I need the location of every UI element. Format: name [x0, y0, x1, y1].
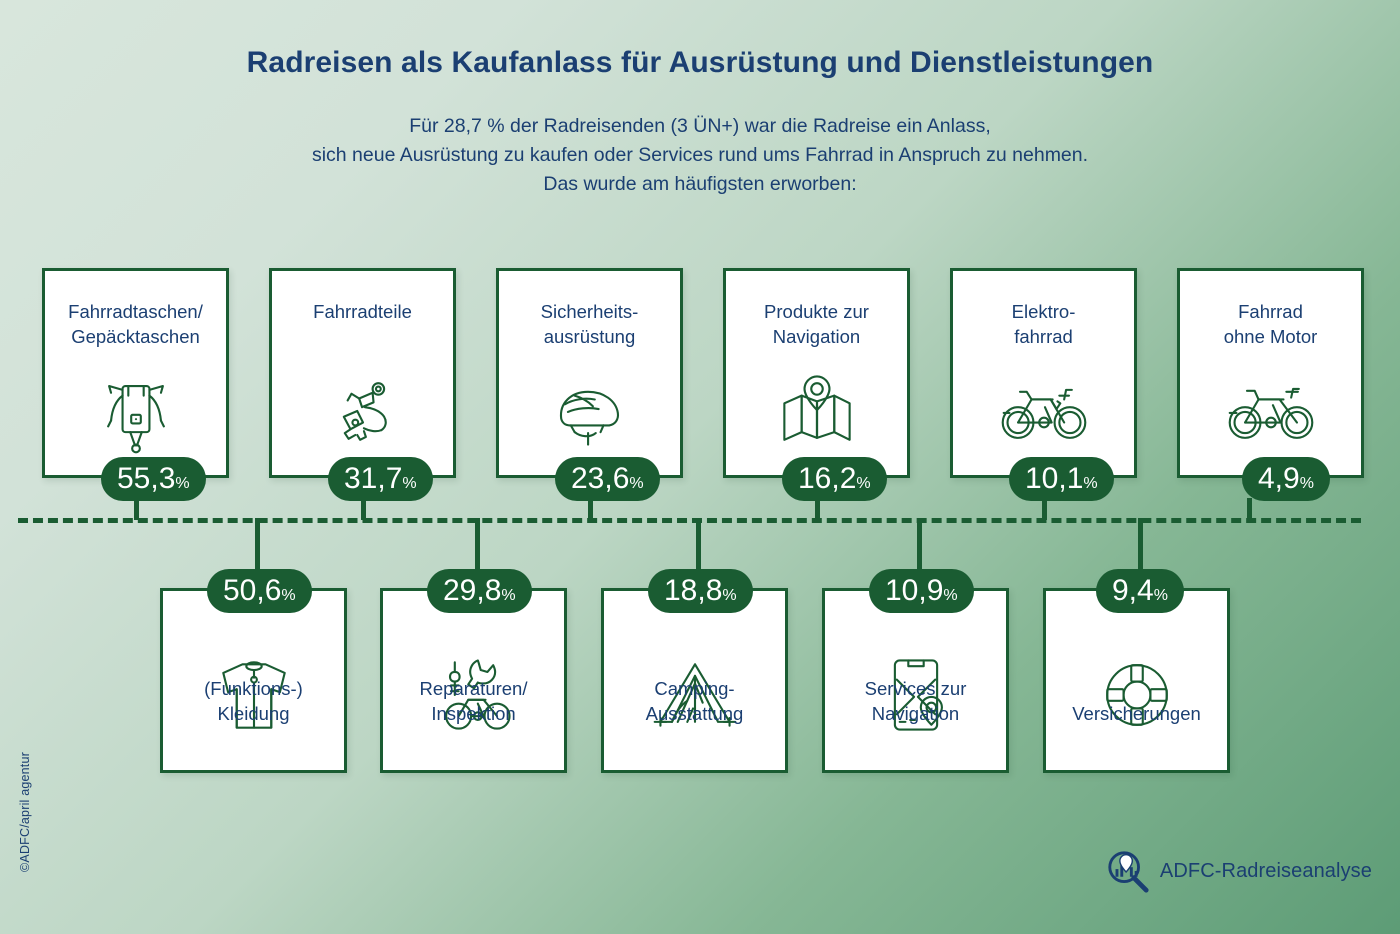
card-label: Services zur Navigation [825, 676, 1006, 726]
value-badge: 23,6% [555, 457, 660, 501]
card-produkte-navigation[interactable]: Produkte zur Navigation 16,2% [723, 268, 910, 478]
value-badge: 55,3% [101, 457, 206, 501]
adfc-logo: ADFC-Radreiseanalyse [1105, 848, 1372, 894]
e-bike-icon [996, 363, 1092, 459]
connector-stem [588, 498, 593, 520]
connector-stem [475, 518, 480, 570]
connector-stem [255, 518, 260, 570]
dashed-axis-line [18, 518, 1361, 523]
logo-label: ADFC-Radreiseanalyse [1160, 860, 1372, 883]
lifebuoy-icon [1089, 647, 1185, 743]
card-reparaturen-inspektion[interactable]: Reparaturen/ Inspektion 29,8% [380, 588, 567, 773]
card-label: Reparaturen/ Inspektion [383, 676, 564, 726]
helmet-icon [542, 363, 638, 459]
card-elektrofahrrad[interactable]: Elektro- fahrrad 10,1% [950, 268, 1137, 478]
card-label: Camping- Ausstattung [604, 676, 785, 726]
card-services-navigation[interactable]: Services zur Navigation 10,9% [822, 588, 1009, 773]
connector-stem [917, 518, 922, 570]
connector-stem [696, 518, 701, 570]
card-label: (Funktions-) Kleidung [163, 676, 344, 726]
card-label: Versicherungen [1046, 701, 1227, 726]
connector-stem [1138, 518, 1143, 570]
connector-stem [134, 498, 139, 520]
magnifier-chart-pin-icon [1105, 848, 1151, 894]
card-label: Elektro- fahrrad [953, 299, 1134, 349]
card-label: Fahrradtaschen/ Gepäcktaschen [45, 299, 226, 349]
value-badge: 29,8% [427, 569, 532, 613]
connector-stem [1247, 498, 1252, 520]
copyright-text: ©ADFC/april agentur [18, 742, 32, 872]
card-fahrrad-ohne-motor[interactable]: Fahrrad ohne Motor 4,9% [1177, 268, 1364, 478]
card-fahrradteile[interactable]: Fahrradteile 31,7% [269, 268, 456, 478]
card-camping-ausstattung[interactable]: Camping- Ausstattung 18,8% [601, 588, 788, 773]
pannier-bag-icon [88, 363, 184, 459]
card-label: Fahrrad ohne Motor [1180, 299, 1361, 349]
card-label: Sicherheits- ausrüstung [499, 299, 680, 349]
card-label: Produkte zur Navigation [726, 299, 907, 349]
card-versicherungen[interactable]: Versicherungen 9,4% [1043, 588, 1230, 773]
value-badge: 10,9% [869, 569, 974, 613]
connector-stem [1042, 498, 1047, 520]
derailleur-icon [315, 363, 411, 459]
connector-stem [361, 498, 366, 520]
card-fahrradtaschen[interactable]: Fahrradtaschen/ Gepäcktaschen 55,3% [42, 268, 229, 478]
value-badge: 16,2% [782, 457, 887, 501]
value-badge: 4,9% [1242, 457, 1330, 501]
card-label: Fahrradteile [272, 299, 453, 324]
connector-stem [815, 498, 820, 520]
value-badge: 50,6% [207, 569, 312, 613]
value-badge: 18,8% [648, 569, 753, 613]
value-badge: 31,7% [328, 457, 433, 501]
card-sicherheitsausruestung[interactable]: Sicherheits- ausrüstung 23,6% [496, 268, 683, 478]
card-funktionskleidung[interactable]: (Funktions-) Kleidung 50,6% [160, 588, 347, 773]
value-badge: 10,1% [1009, 457, 1114, 501]
bicycle-icon [1223, 363, 1319, 459]
value-badge: 9,4% [1096, 569, 1184, 613]
folded-map-pin-icon [769, 363, 865, 459]
timeline-diagram: Fahrradtaschen/ Gepäcktaschen 55,3% [0, 0, 1400, 934]
